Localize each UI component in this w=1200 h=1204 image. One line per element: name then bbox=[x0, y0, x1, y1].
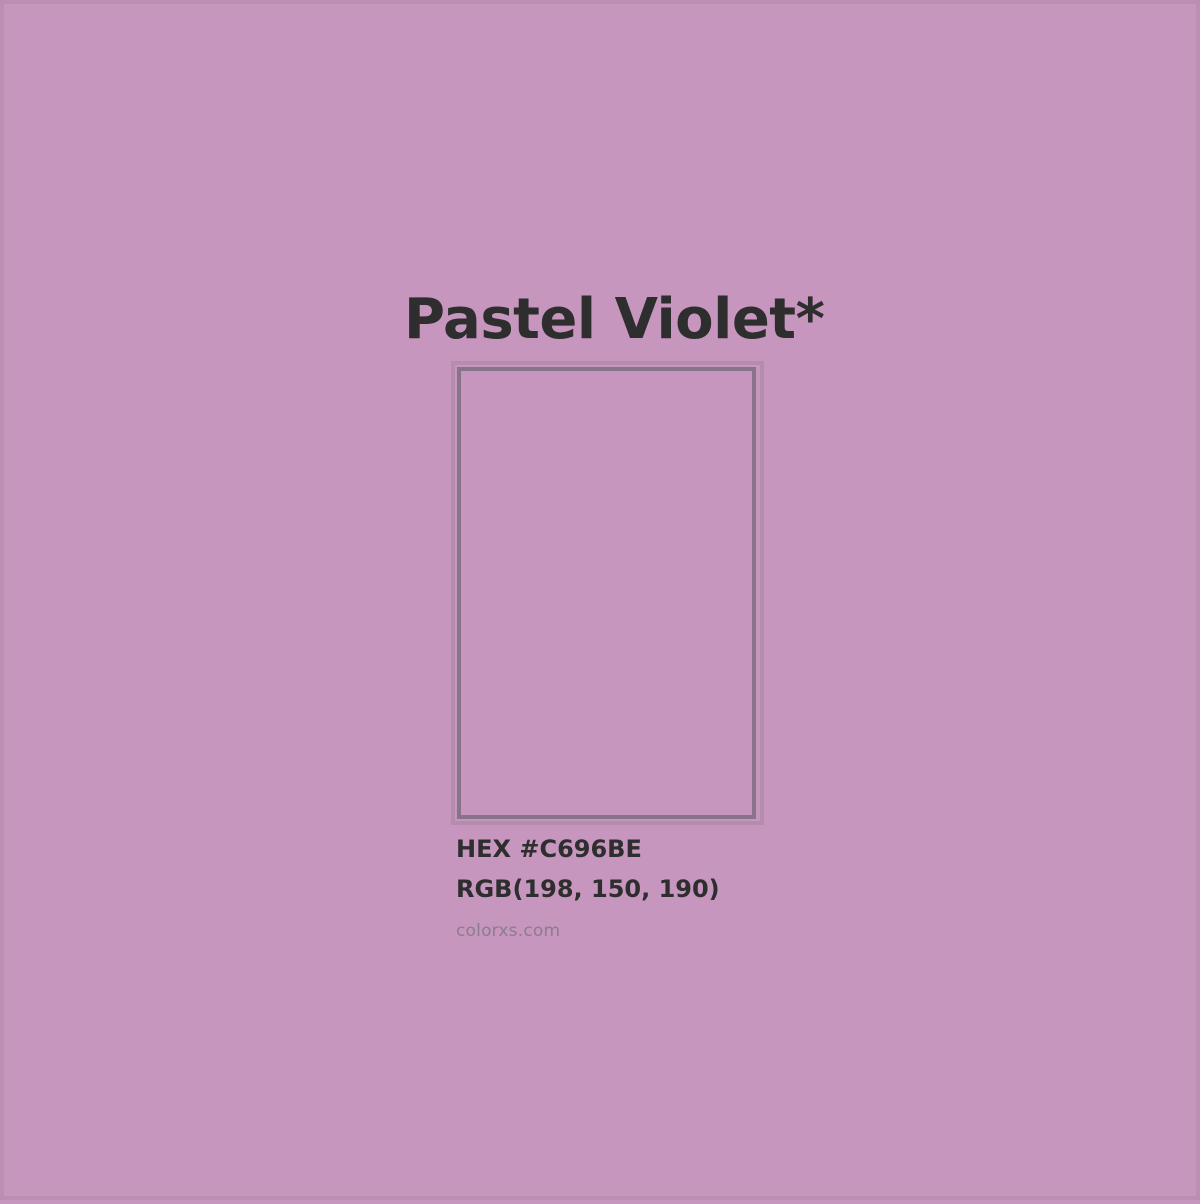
color-swatch bbox=[4, 4, 1200, 1204]
swatch-outline-outer bbox=[451, 361, 764, 825]
rgb-value-label: RGB(198, 150, 190) bbox=[456, 877, 720, 901]
color-swatch-page: Pastel Violet* HEX #C696BE RGB(198, 150,… bbox=[0, 0, 1200, 1200]
hex-value-label: HEX #C696BE bbox=[456, 837, 720, 861]
color-info-block: HEX #C696BE RGB(198, 150, 190) colorxs.c… bbox=[456, 837, 720, 941]
swatch-outline-inner bbox=[457, 367, 756, 819]
page-title: Pastel Violet* bbox=[404, 289, 824, 351]
site-watermark: colorxs.com bbox=[456, 921, 720, 941]
